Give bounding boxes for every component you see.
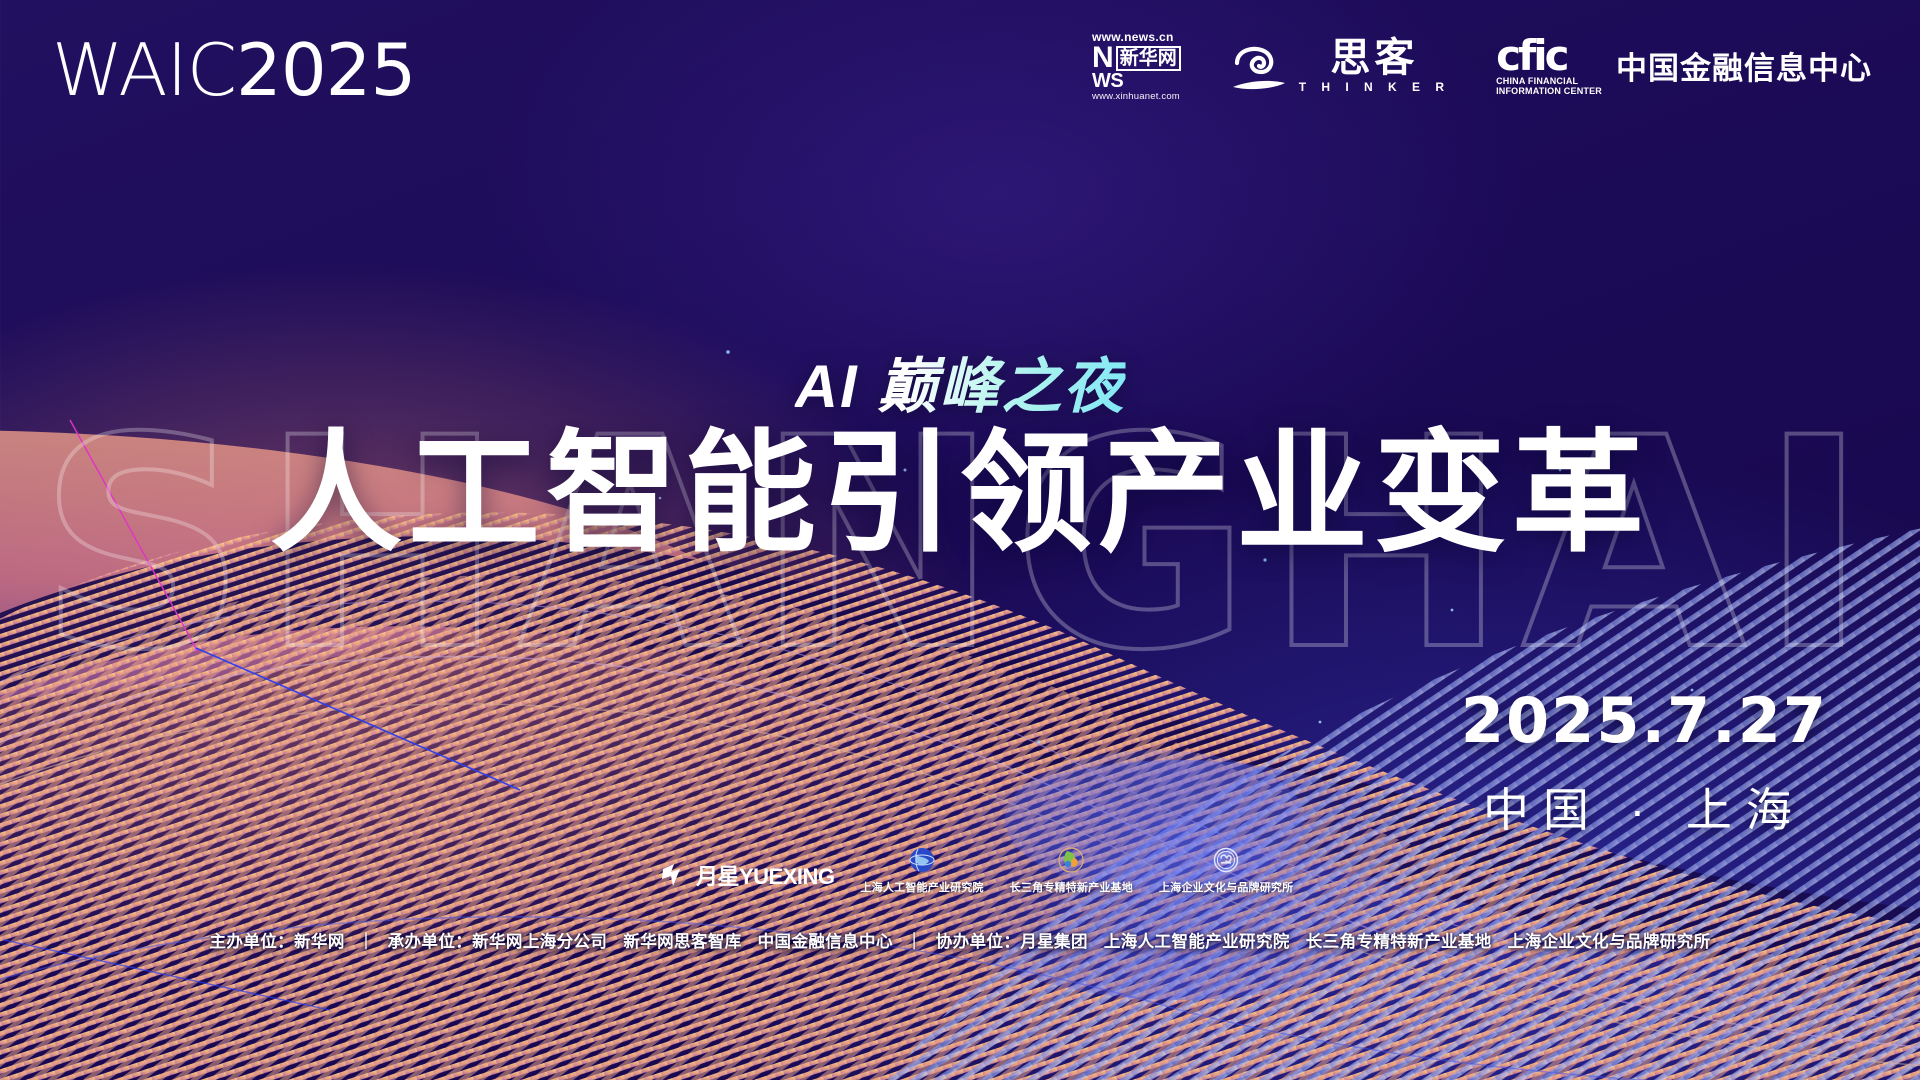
partner-item: 上海人工智能产业研究院 <box>861 846 984 895</box>
cfic-en-line1: CHINA FINANCIAL <box>1496 76 1578 86</box>
partner-name: 长三角专精特新产业基地 <box>1010 879 1133 895</box>
poster-canvas: WAIC2025 www.news.cn N 新华网 WS www.xinhua… <box>0 0 1920 1080</box>
event-location: 中国 · 上海 <box>1461 774 1828 840</box>
cfic-logo: cfic CHINA FINANCIAL INFORMATION CENTER … <box>1496 36 1872 96</box>
partner-name: 月星YUEXING <box>696 859 835 891</box>
cfic-wordmark: cfic <box>1496 36 1566 76</box>
thinker-logo: 思客 T H I N K E R <box>1227 37 1450 95</box>
waic-logo-year: 2025 <box>236 28 415 112</box>
seal-logo-icon <box>1211 846 1241 876</box>
xinhuanet-cn-name: 新华网 <box>1116 46 1181 71</box>
waic-logo-text: WAIC2025 <box>52 34 415 106</box>
poster-header: WAIC2025 www.news.cn N 新华网 WS www.xinhua… <box>0 0 1920 140</box>
footer-coorganizer-2: 上海人工智能产业研究院 <box>1104 933 1290 951</box>
xinhuanet-mark: N 新华网 <box>1092 45 1181 71</box>
footer-credits: 主办单位：新华网｜承办单位：新华网上海分公司新华网思客智库中国金融信息中心｜协办… <box>0 928 1920 952</box>
footer-organizer-3: 中国金融信息中心 <box>758 933 893 951</box>
footer-separator-1: ｜ <box>345 928 388 952</box>
waic-logo-main: WAIC <box>52 28 236 112</box>
globe-logo-icon <box>907 846 937 876</box>
footer-coorganizer-1: 协办单位：月星集团 <box>936 933 1088 951</box>
footer-coorganizer-4: 上海企业文化与品牌研究所 <box>1508 933 1711 951</box>
footer-coorganizer-3: 长三角专精特新产业基地 <box>1306 933 1492 951</box>
thinker-text-block: 思客 T H I N K E R <box>1299 38 1450 94</box>
cfic-cn-name: 中国金融信息中心 <box>1616 43 1872 88</box>
footer-separator-2: ｜ <box>893 928 936 952</box>
thinker-cn-name: 思客 <box>1330 38 1418 78</box>
xinhuanet-letters-ws: WS <box>1092 72 1123 90</box>
yuexing-logo: 月星YUEXING <box>660 859 835 895</box>
event-date-block: 2025.7.27 中国 · 上海 <box>1461 690 1828 840</box>
thinker-en-name: T H I N K E R <box>1299 80 1450 94</box>
thinker-swirl-icon <box>1227 37 1289 95</box>
sponsor-logo-row: www.news.cn N 新华网 WS www.xinhuanet.com 思… <box>1092 30 1872 102</box>
xinhuanet-url-bottom: www.xinhuanet.com <box>1092 91 1180 102</box>
partner-item: 月星YUEXING <box>660 859 835 895</box>
partner-logo-strip: 月星YUEXING 上海人工智能产业研究院 长三角专精特新产业基地 <box>660 846 1293 895</box>
xinhuanet-letter-n: N <box>1092 45 1113 71</box>
cfic-en-line2: INFORMATION CENTER <box>1496 86 1602 96</box>
cfic-mark-block: cfic CHINA FINANCIAL INFORMATION CENTER <box>1496 36 1602 96</box>
partner-name: 上海人工智能产业研究院 <box>861 879 984 895</box>
map-logo-icon <box>1056 846 1086 876</box>
event-date: 2025.7.27 <box>1461 690 1828 752</box>
partner-name: 上海企业文化与品牌研究所 <box>1159 879 1293 895</box>
event-headline: 人工智能引领产业变革 <box>270 420 1650 568</box>
footer-credit-line: 主办单位：新华网｜承办单位：新华网上海分公司新华网思客智库中国金融信息中心｜协办… <box>210 928 1711 952</box>
footer-organizer-1: 承办单位：新华网上海分公司 <box>388 933 608 951</box>
footer-organizer-2: 新华网思客智库 <box>623 933 741 951</box>
event-subtitle: AI 巅峰之夜 <box>795 338 1126 425</box>
xinhuanet-logo: www.news.cn N 新华网 WS www.xinhuanet.com <box>1092 30 1181 102</box>
partner-item: 上海企业文化与品牌研究所 <box>1159 846 1293 895</box>
waic-logo: WAIC2025 <box>52 34 415 106</box>
footer-host: 主办单位：新华网 <box>210 933 345 951</box>
partner-item: 长三角专精特新产业基地 <box>1010 846 1133 895</box>
yuexing-bird-icon <box>660 860 690 890</box>
